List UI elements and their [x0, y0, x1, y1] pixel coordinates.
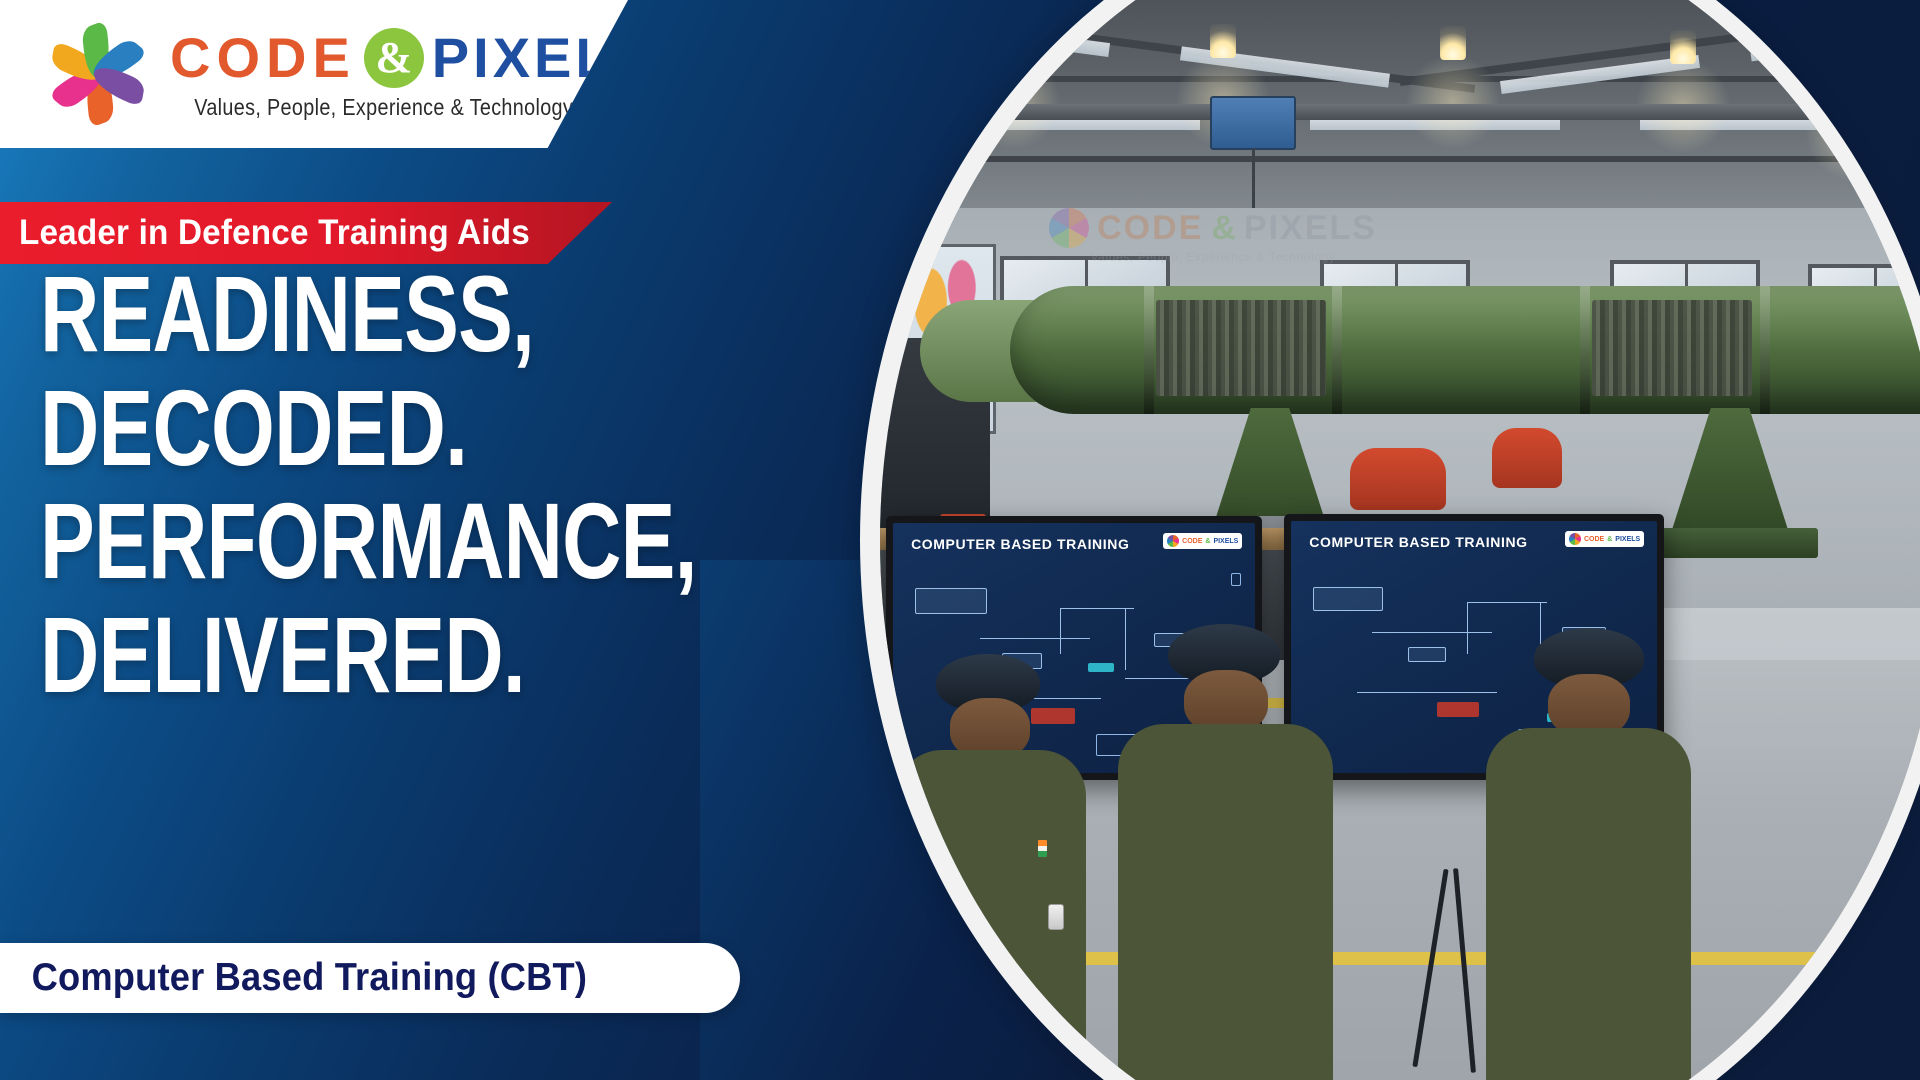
crane-hoist [1210, 96, 1296, 150]
missile-segment-ring [1580, 286, 1590, 414]
schematic-node [1313, 587, 1383, 611]
monitor-logo: CODE & PIXELS [1163, 533, 1242, 549]
engine-internals [1592, 300, 1752, 396]
ceiling-lamp-icon [1000, 26, 1026, 60]
brand-tagline: Values, People, Experience & Technology [170, 94, 587, 121]
hero-photo: COMPUTER BASED TRAINING CODE & PIXELS [880, 0, 1920, 1080]
hangar-scene: COMPUTER BASED TRAINING CODE & PIXELS [880, 0, 1920, 1080]
soldier-figure [1118, 624, 1333, 1080]
schematic-line [1372, 632, 1492, 633]
monitor-title: COMPUTER BASED TRAINING [911, 536, 1129, 552]
logo-pixels-text: PIXELS [1615, 536, 1640, 543]
logo-pixels-text: PIXELS [1213, 538, 1238, 545]
monitor-title: COMPUTER BASED TRAINING [1309, 534, 1527, 550]
cbt-pill: Computer Based Training (CBT) [0, 943, 740, 1013]
schematic-node [915, 588, 987, 614]
schematic-line [1467, 602, 1468, 654]
handheld-remote [1048, 904, 1064, 930]
ceiling-lamp-icon [1210, 24, 1236, 58]
headline-line-1: READINESS, [40, 262, 564, 366]
logo-amp-text: & [375, 36, 412, 80]
monitor-logo: CODE & PIXELS [1565, 531, 1644, 547]
schematic-highlight [1088, 663, 1114, 672]
logo-amp-text: & [1607, 536, 1612, 543]
missile-segment-ring [1144, 286, 1154, 414]
logo-amp-text: & [1205, 538, 1210, 545]
pinwheel-icon [1167, 535, 1179, 547]
marketing-banner: COMPUTER BASED TRAINING CODE & PIXELS [0, 0, 1920, 1080]
flag-patch-icon [1038, 840, 1047, 857]
pinwheel-icon [1569, 533, 1581, 545]
worker-figure [1492, 428, 1562, 488]
logo-amp-badge: & [364, 28, 424, 88]
logo-code-text: CODE [1182, 538, 1202, 545]
schematic-line [1060, 608, 1134, 609]
logo-code-text: CODE [1584, 536, 1604, 543]
soldier-figure [1486, 628, 1691, 1080]
screen-top-right-badge [1231, 573, 1240, 586]
ceiling-lamp-icon [1440, 26, 1466, 60]
headline-block: READINESS, DECODED. PERFORMANCE, DELIVER… [40, 262, 730, 717]
schematic-line [1060, 608, 1061, 654]
headline-line-4: DELIVERED. [40, 603, 564, 707]
schematic-line [980, 638, 1090, 639]
roof-beam [880, 156, 1920, 162]
stand-base [1642, 528, 1818, 558]
brand-logo-plate: CODE & PIXELS Values, People, Experience… [0, 0, 628, 148]
ribbon-label: Leader in Defence Training Aids [0, 213, 530, 253]
pinwheel-icon [38, 19, 158, 129]
headline-line-3: PERFORMANCE, [40, 489, 564, 593]
missile-segment-ring [1760, 286, 1770, 414]
soldier-uniform [1486, 728, 1691, 1080]
logo-code-text: CODE [170, 30, 356, 86]
soldier-figure [896, 654, 1086, 1080]
ceiling-lamp-icon [1840, 58, 1866, 92]
engine-internals [1156, 300, 1326, 396]
logo-pixels-text: PIXELS [432, 30, 655, 86]
ceiling-lamp-icon [1670, 30, 1696, 64]
schematic-node [1408, 647, 1446, 662]
schematic-highlight [1437, 702, 1479, 717]
soldier-uniform [1118, 724, 1333, 1080]
schematic-line [1467, 602, 1547, 603]
missile-segment-ring [1332, 286, 1342, 414]
cbt-label: Computer Based Training (CBT) [0, 956, 587, 1000]
schematic-line [1357, 692, 1497, 693]
worker-figure [1350, 448, 1446, 510]
headline-line-2: DECODED. [40, 376, 564, 480]
gantry-rail [880, 104, 1920, 120]
